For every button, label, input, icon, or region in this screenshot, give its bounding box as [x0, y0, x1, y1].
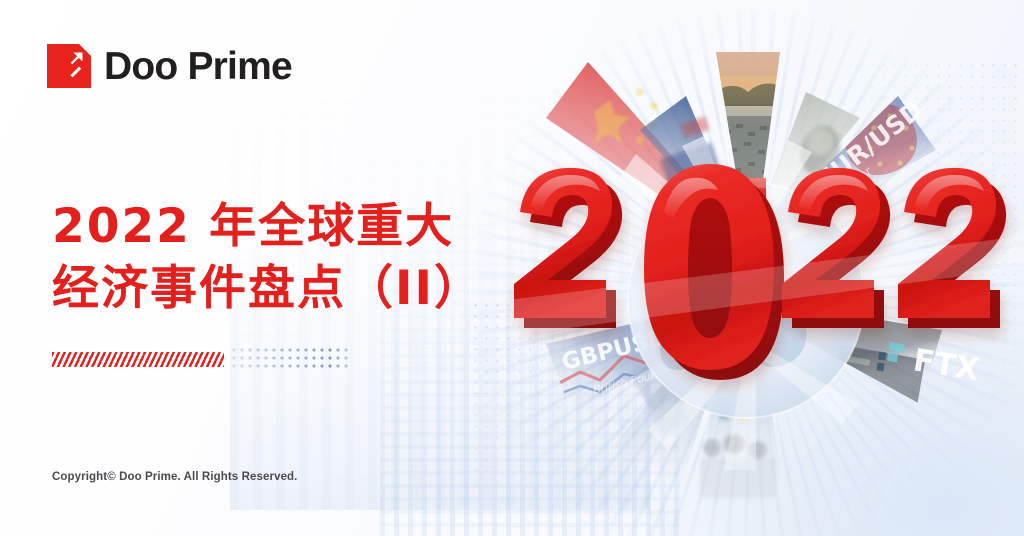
hero-artwork: EUR/USD Euro Dollar	[468, 0, 1024, 536]
doo-prime-mark-icon	[47, 44, 91, 88]
brand-logo[interactable]: Doo Prime	[47, 44, 292, 88]
copyright-text: Copyright© Doo Prime. All Rights Reserve…	[52, 471, 297, 483]
banner-root: Doo Prime 2022 年全球重大 经济事件盘点（II） Copyrigh…	[0, 0, 1024, 536]
brand-name: Doo Prime	[104, 47, 292, 86]
title-underline-decoration	[52, 346, 350, 372]
striped-rule	[52, 352, 224, 367]
page-title: 2022 年全球重大 经济事件盘点（II）	[52, 196, 522, 320]
title-line-1: 2022 年全球重大	[52, 196, 522, 258]
dot-matrix-decoration	[230, 346, 350, 372]
title-line-2: 经济事件盘点（II）	[52, 258, 522, 320]
